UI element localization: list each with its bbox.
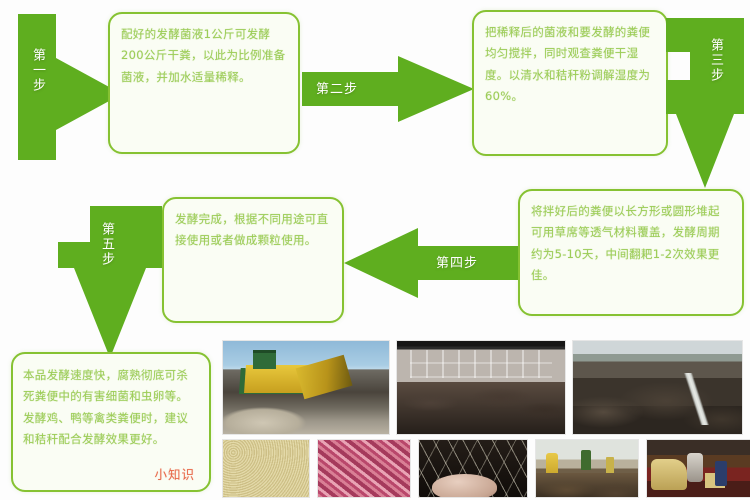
step-2-text: 把稀释后的菌液和要发酵的粪便均匀搅拌，同时观查粪便干湿度。以清水和秸秆粉调解湿度… [474,12,666,154]
tip-badge: 小知识 [154,464,195,483]
step-5-arrow-shape [58,206,162,358]
earthworm-photo: 蚯蚓 [317,439,411,498]
step-2-textbox: 把稀释后的菌液和要发酵的粪便均匀搅拌，同时观查粪便干湿度。以清水和秸秆粉调解湿度… [472,10,668,156]
step-1-arrow-shaft [18,14,56,160]
photo-row-top: 翻堆机翻抛粪堆 发酵车间蒸汽腾腾的料堆 户外长条形发酵堆 [222,340,750,435]
step-2-arrow[interactable]: 第二步 [302,56,474,122]
fermentation-shed-photo: 发酵车间蒸汽腾腾的料堆 [396,340,566,435]
windrow-turner-photo: 翻堆机翻抛粪堆 [222,340,390,435]
step-3-textbox: 将拌好后的粪便以长方形或圆形堆起可用草席等透气材料覆盖，发酵周期约为5-10天，… [518,189,744,316]
step-1-text: 配好的发酵菌液1公斤可发酵200公斤干粪，以此为比例准备菌液，并加水适量稀释。 [110,14,298,152]
step-5-textbox: 本品发酵速度快，腐熟彻底可杀死粪便中的有害细菌和虫卵等。发酵鸡、鸭等禽类粪便时，… [11,352,211,492]
workers-turning-pile-photo: 工人翻动发酵堆 [535,439,639,498]
loading-compost-photo: 装运有机肥 [646,439,750,498]
step-4-text: 发酵完成，根据不同用途可直接使用或者做成颗粒使用。 [164,199,342,321]
fermentation-flow-diagram: 第一步 配好的发酵菌液1公斤可发酵200公斤干粪，以此为比例准备菌液，并加水适量… [0,0,750,500]
step-1-textbox: 配好的发酵菌液1公斤可发酵200公斤干粪，以此为比例准备菌液，并加水适量稀释。 [108,12,300,154]
step-1-arrow[interactable]: 第一步 [18,14,122,160]
machine-cab-shape [253,350,276,369]
step-3-arrow[interactable]: 第三步 [666,18,744,188]
photo-gallery: 翻堆机翻抛粪堆 发酵车间蒸汽腾腾的料堆 户外长条形发酵堆 颗粒有机肥 蚯蚓 手抓… [222,340,750,498]
step-5-arrow[interactable]: 第五步 [58,206,162,358]
step-4-arrow[interactable]: 第四步 [344,228,518,298]
step-3-arrow-shape [666,18,744,188]
step-4-arrow-shape [344,228,518,298]
step-4-textbox: 发酵完成，根据不同用途可直接使用或者做成颗粒使用。 [162,197,344,323]
hand-in-compost-photo: 手抓腐熟有机肥 [418,439,528,498]
step-2-arrow-shape [302,56,474,122]
outdoor-windrow-photo: 户外长条形发酵堆 [572,340,743,435]
photo-row-bottom: 颗粒有机肥 蚯蚓 手抓腐熟有机肥 工人翻动发酵堆 装运有机肥 [222,439,750,498]
step-3-text: 将拌好后的粪便以长方形或圆形堆起可用草席等透气材料覆盖，发酵周期约为5-10天，… [520,191,742,314]
granular-fertilizer-photo: 颗粒有机肥 [222,439,310,498]
